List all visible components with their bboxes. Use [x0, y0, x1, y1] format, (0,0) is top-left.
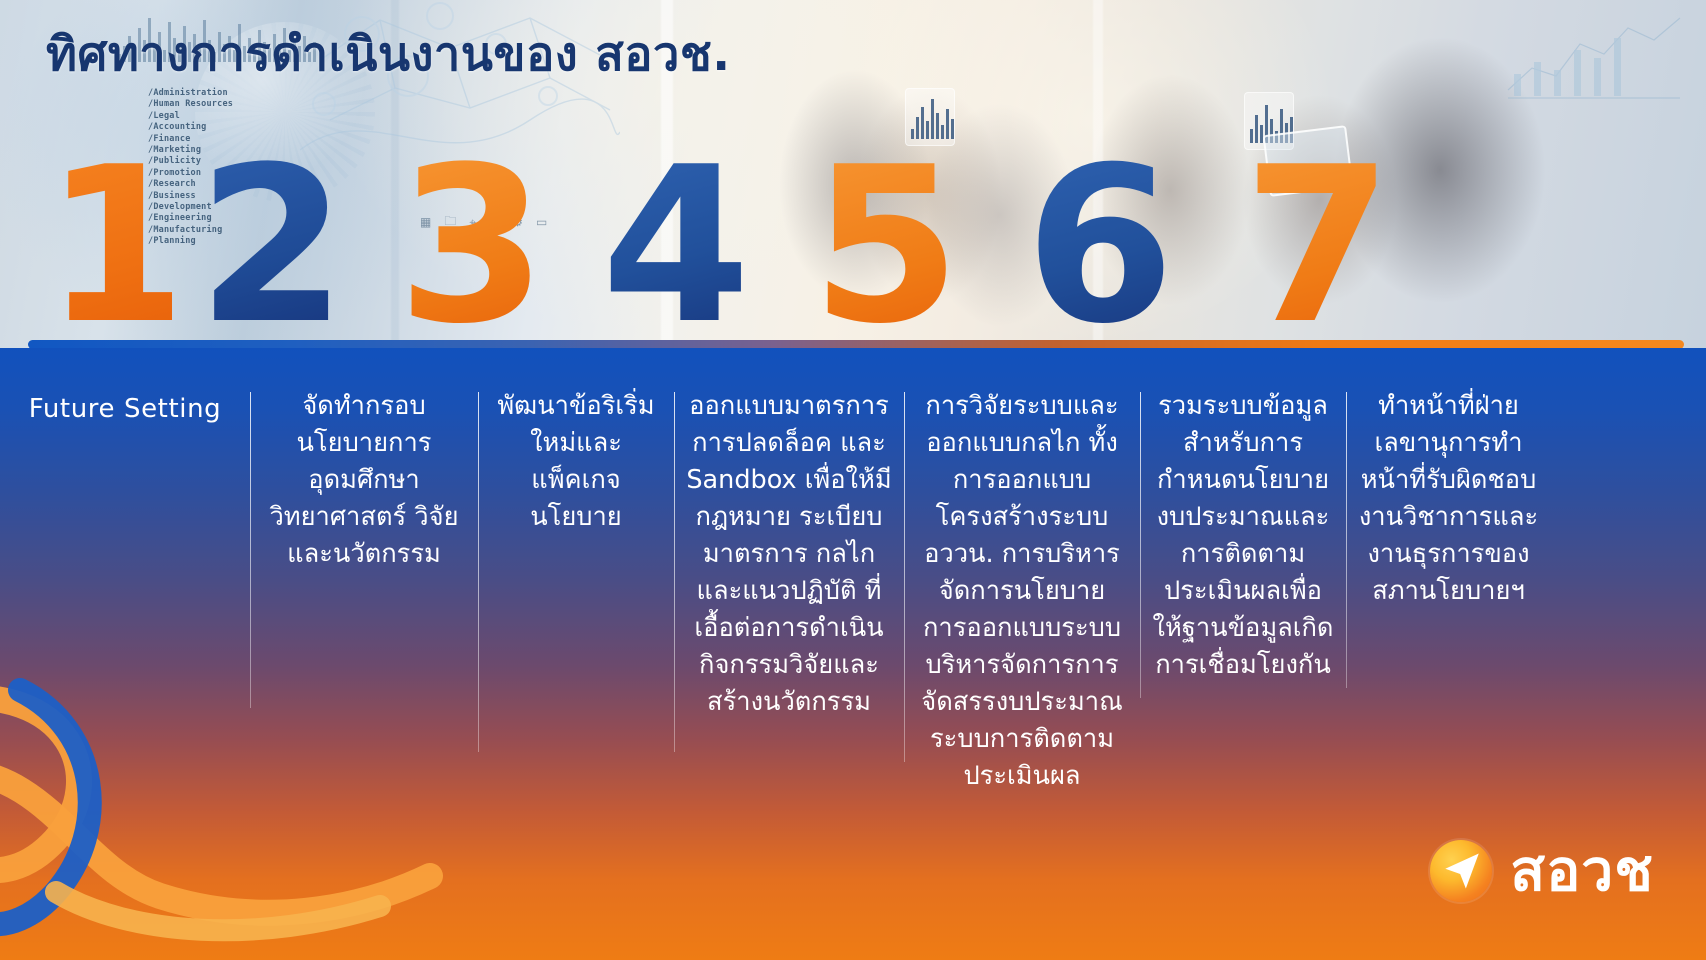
column-item-1: จัดทำกรอบนโยบายการอุดมศึกษา วิทยาศาสตร์ … [250, 388, 478, 778]
column-item-3: ออกแบบมาตรการการปลดล็อค และ Sandbox เพื่… [674, 388, 904, 778]
number-3: 3 [372, 146, 572, 346]
page-title: ทิศทางการดำเนินงานของ สอวช. [46, 16, 731, 91]
number-4: 4 [572, 146, 780, 346]
column-item-6: ทำหน้าที่ฝ่ายเลขานุการทำหน้าที่รับผิดชอบ… [1346, 388, 1551, 778]
number-7: 7 [1208, 146, 1428, 346]
column-item-4: การวิจัยระบบและออกแบบกลไก ทั้งการออกแบบโ… [904, 388, 1140, 795]
numbers-row: 1 2 3 4 5 6 7 [0, 146, 1706, 356]
hero-banner: /Administration /Human Resources /Legal … [0, 0, 1706, 378]
number-2: 2 [172, 146, 372, 346]
column-divider [904, 392, 905, 762]
number-1: 1 [44, 146, 172, 346]
column-lead-future-setting: Future Setting [0, 388, 250, 778]
organization-logo: สอวช [1430, 840, 1654, 902]
column-divider [674, 392, 675, 752]
column-item-2: พัฒนาข้อริเริ่มใหม่และแพ็คเกจนโยบาย [478, 388, 674, 778]
column-text-5: รวมระบบข้อมูลสำหรับการกำหนดนโยบาย งบประม… [1153, 391, 1334, 680]
content-panel: Future Setting จัดทำกรอบนโยบายการอุดมศึก… [0, 348, 1706, 960]
column-text-1: จัดทำกรอบนโยบายการอุดมศึกษา วิทยาศาสตร์ … [269, 391, 458, 569]
column-divider [1346, 392, 1347, 688]
lead-label: Future Setting [29, 394, 222, 424]
column-text-2: พัฒนาข้อริเริ่มใหม่และแพ็คเกจนโยบาย [497, 391, 654, 532]
column-divider [478, 392, 479, 752]
slide-root: /Administration /Human Resources /Legal … [0, 0, 1706, 960]
column-item-5: รวมระบบข้อมูลสำหรับการกำหนดนโยบาย งบประม… [1140, 388, 1346, 778]
logo-wordmark: สอวช [1510, 840, 1654, 902]
line-chart-graphic [1504, 10, 1684, 102]
number-6: 6 [992, 146, 1208, 346]
number-5: 5 [780, 146, 992, 346]
column-text-6: ทำหน้าที่ฝ่ายเลขานุการทำหน้าที่รับผิดชอบ… [1359, 391, 1538, 606]
column-divider [250, 392, 251, 708]
column-text-3: ออกแบบมาตรการการปลดล็อค และ Sandbox เพื่… [686, 391, 891, 717]
column-divider [1140, 392, 1141, 698]
column-text-4: การวิจัยระบบและออกแบบกลไก ทั้งการออกแบบโ… [921, 391, 1122, 791]
arrow-circle-logo-icon [1430, 840, 1492, 902]
columns-container: Future Setting จัดทำกรอบนโยบายการอุดมศึก… [0, 388, 1706, 795]
